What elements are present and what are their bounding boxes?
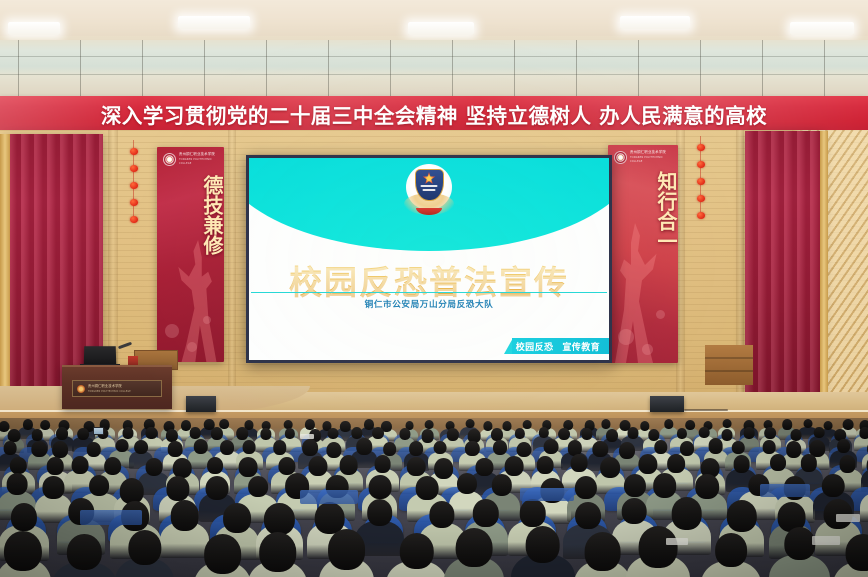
podium-plaque-sub: TONGREN POLYTECHNIC COLLEGE bbox=[88, 390, 131, 393]
audience-area bbox=[0, 418, 868, 577]
audience-member-head bbox=[639, 454, 658, 474]
audience-member-head bbox=[115, 439, 128, 453]
audience-member-head bbox=[770, 454, 786, 471]
audience-member-head bbox=[619, 442, 635, 459]
gold-trim-left bbox=[0, 134, 10, 402]
wall-panel-seam bbox=[390, 40, 391, 98]
audience-member-head bbox=[32, 441, 47, 457]
audience-member-head bbox=[368, 475, 391, 499]
audience-member-head bbox=[204, 534, 242, 574]
audience-member-head bbox=[243, 440, 256, 454]
audience-member-head bbox=[145, 458, 162, 476]
audience-member-head bbox=[543, 439, 558, 455]
audience-member-head bbox=[520, 499, 547, 527]
audience-member-head bbox=[465, 419, 474, 428]
audience-member-head bbox=[627, 427, 638, 439]
audience-member-head bbox=[516, 442, 531, 458]
wall-panel-seam bbox=[762, 40, 763, 98]
audience-member-head bbox=[285, 428, 295, 439]
audience-member-head bbox=[123, 427, 134, 439]
audience-member-head bbox=[305, 419, 315, 430]
poster-dancer-silhouette-left bbox=[176, 240, 222, 362]
audience-member-head bbox=[447, 428, 459, 441]
ceiling-light-4 bbox=[620, 16, 690, 29]
wall-panel-seam bbox=[452, 40, 453, 98]
audience-member-head bbox=[601, 419, 610, 429]
poster-right: 贵州铜仁职业技术学院 TONGREN POLYTECHNIC COLLEGE 知… bbox=[608, 145, 678, 363]
audience-member bbox=[630, 526, 685, 577]
audience-member-head bbox=[515, 428, 525, 439]
audience-member-head bbox=[173, 458, 192, 478]
poster-right-logo-name: 贵州铜仁职业技术学院 bbox=[630, 150, 666, 154]
audience-member-head bbox=[72, 456, 89, 474]
audience-member-head bbox=[22, 419, 32, 430]
audience-member-body bbox=[860, 493, 868, 522]
desk-surface bbox=[300, 490, 358, 504]
audience-member-head bbox=[782, 419, 792, 429]
lantern-icon bbox=[697, 161, 705, 168]
audience-member-head bbox=[278, 457, 295, 475]
audience-member-head bbox=[416, 476, 439, 500]
audience-member bbox=[772, 527, 827, 577]
poster-left: 贵州铜仁职业技术学院 TONGREN POLYTECHNIC COLLEGE 德… bbox=[157, 147, 224, 362]
wall-panel-seam bbox=[514, 40, 515, 98]
audience-member-head bbox=[434, 441, 447, 455]
wall-panel-seam bbox=[80, 40, 81, 98]
audience-member-head bbox=[134, 440, 148, 455]
audience-member-head bbox=[207, 457, 223, 474]
audience-member-head bbox=[784, 527, 815, 560]
poster-right-text: 知行合一 bbox=[608, 171, 678, 251]
slide-divider bbox=[251, 292, 607, 293]
lantern-icon bbox=[697, 195, 705, 202]
poster-logo-left: 贵州铜仁职业技术学院 TONGREN POLYTECHNIC COLLEGE bbox=[163, 151, 220, 167]
audience-member-head bbox=[814, 427, 825, 438]
wall-panel-seam bbox=[638, 40, 639, 98]
audience-member bbox=[575, 532, 630, 577]
audience-member-head bbox=[239, 457, 258, 477]
audience-member-head bbox=[67, 534, 101, 570]
audience-member bbox=[117, 530, 172, 577]
school-crest-icon bbox=[77, 385, 85, 393]
audience-member-head bbox=[800, 454, 816, 471]
smartphone-icon bbox=[93, 427, 104, 435]
audience-member-head bbox=[166, 476, 189, 501]
banner-text: 深入学习贯彻党的二十届三中全会精神 坚持立德树人 办人民满意的高校 bbox=[101, 99, 767, 129]
paper-handout bbox=[812, 536, 840, 545]
lantern-icon bbox=[130, 165, 138, 172]
audience-member-head bbox=[667, 454, 685, 473]
audience-member-head bbox=[584, 532, 621, 571]
projection-screen: 校园反恐普法宣传 铜仁市公安局万山分局反恐大队 校园反恐 宣传教育 bbox=[249, 158, 609, 360]
audience-member-head bbox=[128, 530, 161, 565]
wall-panel-seam bbox=[266, 40, 267, 98]
lantern-icon bbox=[697, 178, 705, 185]
audience-member-head bbox=[722, 419, 731, 428]
audience-member-head bbox=[764, 427, 776, 439]
audience-member-head bbox=[465, 441, 479, 456]
podium-plaque: 贵州铜仁职业技术学院 TONGREN POLYTECHNIC COLLEGE bbox=[72, 380, 162, 397]
audience-member-head bbox=[790, 429, 801, 441]
police-emblem-icon bbox=[404, 166, 454, 222]
slide-footer: 校园反恐 宣传教育 bbox=[504, 338, 609, 354]
gold-trim-right bbox=[820, 131, 828, 393]
audience-member-head bbox=[4, 531, 42, 571]
audience-member-head bbox=[457, 473, 477, 494]
ceiling-light-2 bbox=[178, 16, 250, 29]
audience-member-head bbox=[170, 500, 199, 530]
stage-monitor-speaker-right bbox=[650, 396, 684, 412]
audience-member-head bbox=[104, 457, 122, 476]
audience-member-head bbox=[399, 428, 410, 440]
audience-member-head bbox=[367, 499, 393, 526]
audience-member-head bbox=[236, 427, 248, 439]
desk-surface bbox=[760, 484, 810, 497]
audience-member-head bbox=[264, 503, 294, 535]
audience-member bbox=[835, 534, 868, 577]
audience-member-head bbox=[575, 502, 601, 529]
poster-left-logo-name: 贵州铜仁职业技术学院 bbox=[179, 152, 215, 156]
audience-member-head bbox=[606, 429, 618, 442]
audience-member-head bbox=[837, 439, 851, 454]
audience-member-head bbox=[89, 475, 109, 496]
audience-member-head bbox=[525, 526, 560, 563]
wall-panel-seam bbox=[328, 40, 329, 98]
audience-member-head bbox=[653, 473, 677, 498]
slide-subtitle: 铜仁市公安局万山分局反恐大队 bbox=[249, 298, 609, 310]
audience-member-head bbox=[211, 427, 223, 440]
lantern-icon bbox=[130, 148, 138, 155]
stage-monitor-speaker-left bbox=[186, 396, 216, 412]
audience-member-head bbox=[430, 501, 455, 528]
audience-member-head bbox=[638, 526, 677, 567]
audience-member-head bbox=[715, 533, 747, 567]
school-crest-icon bbox=[163, 153, 176, 166]
audience-member bbox=[250, 532, 305, 577]
lantern-icon bbox=[697, 144, 705, 151]
projection-screen-frame: 校园反恐普法宣传 铜仁市公安局万山分局反恐大队 校园反恐 宣传教育 bbox=[246, 155, 612, 363]
audience-member-head bbox=[328, 428, 339, 440]
speaker-cable bbox=[684, 409, 728, 411]
audience-member-head bbox=[845, 534, 868, 571]
audience-member-head bbox=[399, 533, 433, 570]
school-crest-icon bbox=[614, 151, 627, 164]
audience-member-head bbox=[504, 456, 523, 476]
audience-member bbox=[389, 533, 444, 577]
lantern-icon bbox=[130, 182, 138, 189]
audience-member-head bbox=[654, 440, 667, 454]
lantern-icon bbox=[130, 216, 138, 223]
audience-member-head bbox=[328, 529, 366, 569]
audience-member-head bbox=[220, 440, 234, 455]
ceiling-light-5 bbox=[790, 22, 854, 35]
audience-member-head bbox=[86, 442, 101, 457]
audience-member-head bbox=[223, 503, 251, 533]
audience-member-head bbox=[733, 455, 750, 473]
audience-member-head bbox=[374, 455, 391, 473]
audience-member-head bbox=[456, 528, 493, 567]
audience-member-head bbox=[575, 476, 597, 500]
ceiling-light-3 bbox=[408, 22, 474, 35]
audience-member bbox=[195, 534, 250, 577]
audience-member-head bbox=[356, 438, 372, 454]
audience-member-head bbox=[537, 456, 554, 474]
audience-member-head bbox=[491, 428, 503, 441]
audience-member bbox=[447, 528, 502, 577]
audience-member-head bbox=[581, 428, 592, 440]
audience-member-head bbox=[472, 499, 498, 527]
audience-member-head bbox=[351, 427, 362, 439]
audience-member bbox=[0, 531, 51, 577]
upper-wall-panels bbox=[0, 40, 868, 98]
audience-member bbox=[860, 476, 868, 522]
audience-member-head bbox=[696, 474, 720, 499]
audience-member-head bbox=[339, 455, 358, 475]
audience-member-head bbox=[822, 474, 845, 498]
poster-left-logo-sub: TONGREN POLYTECHNIC COLLEGE bbox=[179, 158, 212, 166]
audience-member-head bbox=[648, 429, 659, 441]
footer-tag-2: 宣传教育 bbox=[562, 340, 600, 353]
audience-member-head bbox=[120, 478, 145, 504]
podium-plaque-name: 贵州铜仁职业技术学院 bbox=[88, 384, 122, 388]
poster-left-text: 德技兼修 bbox=[157, 175, 224, 255]
audience-member-head bbox=[407, 457, 426, 477]
audience-member bbox=[319, 529, 374, 577]
audience-member-head bbox=[56, 427, 68, 440]
audience-member-head bbox=[11, 503, 37, 531]
audience-member-head bbox=[78, 428, 90, 440]
wall-panel-seam bbox=[204, 40, 205, 98]
ceiling-light-1 bbox=[8, 22, 60, 35]
audience-member-head bbox=[248, 476, 268, 497]
paper-handout bbox=[300, 434, 314, 439]
audience-member-head bbox=[624, 474, 646, 497]
audience-member-head bbox=[622, 498, 647, 524]
desk-surface bbox=[80, 510, 142, 525]
audience-member-head bbox=[859, 427, 868, 439]
poster-logo-right: 贵州铜仁职业技术学院 TONGREN POLYTECHNIC COLLEGE bbox=[614, 149, 674, 165]
wall-panel-seam bbox=[142, 40, 143, 98]
paper-handout bbox=[666, 538, 688, 545]
audience-member-head bbox=[4, 441, 17, 455]
audience-member-head bbox=[43, 476, 64, 498]
audience-member-head bbox=[259, 532, 296, 572]
audience-member-head bbox=[10, 457, 26, 474]
audience-member-head bbox=[699, 427, 710, 438]
audience-member-head bbox=[260, 428, 271, 440]
audience-member-head bbox=[593, 441, 608, 457]
audience-member bbox=[515, 526, 570, 577]
audience-member-head bbox=[303, 439, 319, 456]
audience-member-head bbox=[190, 427, 201, 438]
lantern-icon bbox=[697, 212, 705, 219]
audience-member-head bbox=[166, 429, 178, 442]
audience-member-head bbox=[671, 497, 702, 529]
wall-panel-seam bbox=[700, 40, 701, 98]
audience-member-head bbox=[410, 441, 424, 456]
lantern-icon bbox=[130, 199, 138, 206]
slide-title: 校园反恐普法宣传 bbox=[249, 256, 609, 304]
stage-curtain-right bbox=[745, 131, 823, 393]
audience-member-head bbox=[708, 438, 723, 454]
audience-member-head bbox=[425, 420, 434, 429]
wall-panel-seam bbox=[576, 40, 577, 98]
event-banner: 深入学习贯彻党的二十届三中全会精神 坚持立德树人 办人民满意的高校 bbox=[0, 96, 868, 132]
audience-member bbox=[57, 534, 112, 577]
auditorium-photo: 深入学习贯彻党的二十届三中全会精神 坚持立德树人 办人民满意的高校 贵州铜仁职业… bbox=[0, 0, 868, 577]
audience-member-head bbox=[6, 473, 27, 495]
audience-member-head bbox=[743, 427, 754, 438]
audience-member-head bbox=[571, 454, 588, 472]
audience-member-head bbox=[491, 474, 511, 496]
wall-panel-seam bbox=[18, 40, 19, 98]
podium: 贵州铜仁职业技术学院 TONGREN POLYTECHNIC COLLEGE bbox=[62, 365, 172, 409]
audience-member-head bbox=[32, 429, 43, 440]
audience-member bbox=[703, 533, 758, 577]
desk-surface bbox=[520, 488, 574, 501]
audience-member-head bbox=[146, 427, 157, 439]
audience-member-head bbox=[763, 440, 776, 453]
audience-member-head bbox=[839, 455, 856, 473]
wall-panel-seam bbox=[824, 40, 825, 98]
audience-member-head bbox=[677, 428, 687, 439]
audience-member-head bbox=[47, 457, 64, 475]
footer-tag-1: 校园反恐 bbox=[516, 340, 554, 353]
audience-member-head bbox=[168, 441, 183, 456]
audience-member-head bbox=[726, 500, 756, 532]
paper-handout bbox=[836, 514, 860, 522]
wooden-steps bbox=[705, 345, 753, 385]
audience-member-head bbox=[273, 440, 287, 454]
poster-right-logo-sub: TONGREN POLYTECHNIC COLLEGE bbox=[630, 156, 663, 164]
audience-member-head bbox=[539, 427, 549, 438]
audience-member-head bbox=[206, 476, 229, 500]
audience-member-head bbox=[493, 440, 507, 455]
